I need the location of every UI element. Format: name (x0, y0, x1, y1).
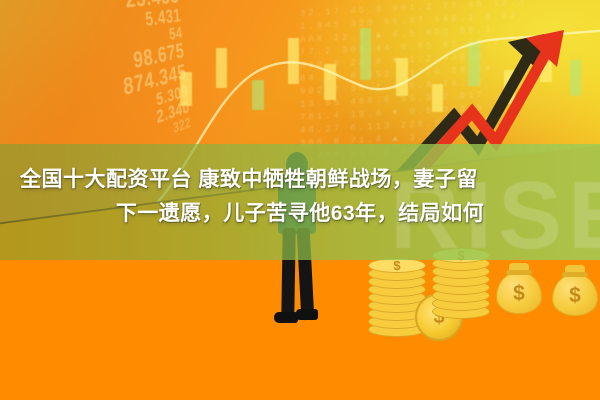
silhouette-shoe-left (274, 312, 298, 323)
title-line-1: 全国十大配资平台 康致中牺牲朝鲜战场，妻子留 (0, 163, 600, 197)
bag-tie (506, 270, 532, 275)
silhouette-shoe-right (296, 309, 318, 320)
money-bag-2: $ (552, 262, 594, 312)
article-title: 全国十大配资平台 康致中牺牲朝鲜战场，妻子留 下一遗愿，儿子苦寻他63年，结局如… (0, 163, 600, 231)
bag-dollar-symbol: $ (496, 282, 542, 306)
bag-tie (562, 272, 588, 277)
bag-dollar-symbol: $ (552, 284, 598, 308)
article-cover-image: 32.17 45.8 901.2 77.45 12.31.845 329 66.… (0, 0, 600, 400)
title-line-2: 下一遗愿，儿子苦寻他63年，结局如何 (0, 197, 600, 231)
